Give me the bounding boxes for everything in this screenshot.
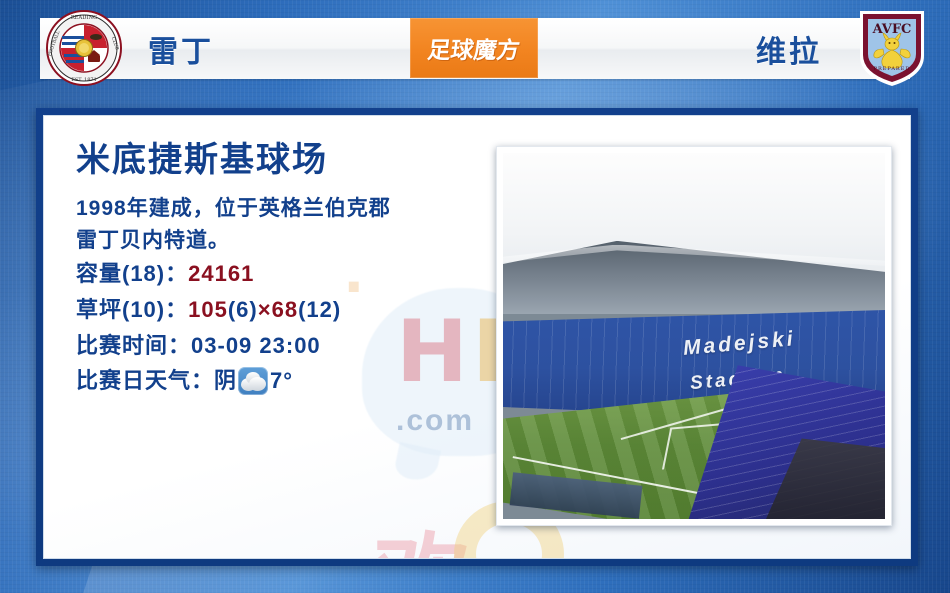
svg-text:EST. 1871: EST. 1871 — [71, 77, 97, 83]
svg-text:AVFC: AVFC — [872, 22, 912, 37]
site-logo[interactable]: 足球魔方 — [410, 18, 538, 78]
app-root: READING FOOTBALL CLUB EST. 1871 雷丁 足球魔方 … — [0, 0, 950, 593]
svg-text:READING: READING — [71, 15, 97, 21]
stadium-description-line-2: 雷丁贝内特道。 — [76, 225, 496, 257]
stadium-photo-frame: Madejski Stadium — [496, 146, 892, 526]
pitch-multiply-sign: × — [258, 297, 272, 322]
stadium-info: 米底捷斯基球场 1998年建成，位于英格兰伯克郡 雷丁贝内特道。 容量(18)：… — [76, 142, 496, 399]
pitch-row: 草坪(10)：105(6)×68(12) — [76, 292, 496, 328]
capacity-label: 容量(18)： — [76, 261, 188, 286]
stadium-description-line-1: 1998年建成，位于英格兰伯克郡 — [76, 193, 496, 225]
pitch-width: 68 — [272, 297, 298, 322]
weather-condition: 阴 — [214, 363, 237, 399]
weather-row: 比赛日天气：阴7° — [76, 363, 496, 399]
content-panel: · HH .com 欢 米底捷斯基球场 1998年建成，位于英格兰伯克郡 雷丁贝… — [36, 108, 918, 566]
madejski-stadium-photo: Madejski Stadium — [503, 153, 885, 519]
capacity-row: 容量(18)：24161 — [76, 256, 496, 292]
match-time-value: 03-09 23:00 — [191, 333, 321, 358]
cloudy-icon — [238, 367, 268, 395]
match-time-label: 比赛时间： — [76, 333, 191, 358]
pitch-length: 105 — [188, 297, 228, 322]
pitch-label: 草坪(10)： — [76, 297, 188, 322]
weather-label: 比赛日天气： — [76, 363, 214, 399]
away-team-name: 维拉 — [756, 27, 822, 71]
pitch-length-rank: (6) — [228, 297, 258, 322]
watermark-chinese: 欢 — [374, 501, 470, 559]
match-time-row: 比赛时间：03-09 23:00 — [76, 328, 496, 364]
svg-text:PREPARED: PREPARED — [874, 66, 911, 72]
content-panel-inner: · HH .com 欢 米底捷斯基球场 1998年建成，位于英格兰伯克郡 雷丁贝… — [43, 115, 911, 559]
capacity-value: 24161 — [188, 261, 254, 286]
watermark-domain: .com — [396, 404, 474, 438]
stadium-title: 米底捷斯基球场 — [76, 142, 496, 179]
match-header: READING FOOTBALL CLUB EST. 1871 雷丁 足球魔方 … — [0, 0, 950, 95]
site-logo-text: 足球魔方 — [426, 31, 522, 65]
home-team-name: 雷丁 — [148, 27, 214, 71]
weather-temperature: 7° — [270, 363, 293, 399]
reading-fc-crest-icon: READING FOOTBALL CLUB EST. 1871 — [46, 10, 122, 86]
pitch-width-rank: (12) — [298, 297, 341, 322]
aston-villa-crest-icon: AVFC PREPARED — [856, 8, 928, 88]
